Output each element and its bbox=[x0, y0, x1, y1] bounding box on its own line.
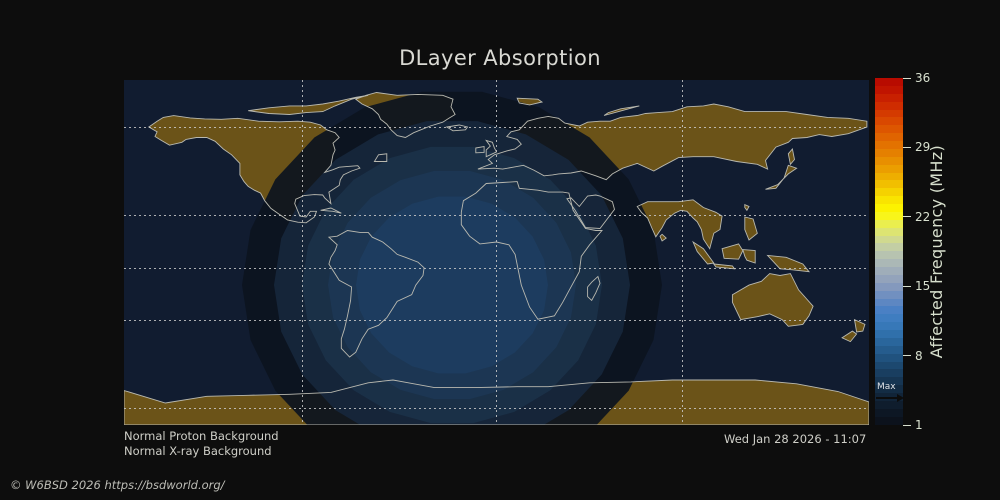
colorbar-segment bbox=[875, 117, 903, 125]
colorbar-segment bbox=[875, 180, 903, 188]
colorbar-segment bbox=[875, 243, 903, 251]
status-proton-background: Normal Proton Background bbox=[124, 429, 279, 444]
absorption-ring-4 bbox=[356, 197, 548, 374]
colorbar-segment bbox=[875, 417, 903, 425]
colorbar-segment bbox=[875, 299, 903, 307]
colorbar-segment bbox=[875, 306, 903, 314]
colorbar-segment bbox=[875, 369, 903, 377]
colorbar-segment bbox=[875, 267, 903, 275]
colorbar-segment bbox=[875, 212, 903, 220]
colorbar-segment bbox=[875, 338, 903, 346]
colorbar-segment bbox=[875, 275, 903, 283]
world-map[interactable] bbox=[124, 80, 869, 425]
colorbar-segment bbox=[875, 236, 903, 244]
status-messages: Normal Proton Background Normal X-ray Ba… bbox=[124, 429, 279, 459]
colorbar-tick: 1 bbox=[903, 418, 923, 432]
colorbar-segment bbox=[875, 188, 903, 196]
colorbar-segment bbox=[875, 354, 903, 362]
colorbar-segment bbox=[875, 173, 903, 181]
colorbar-segment bbox=[875, 362, 903, 370]
colorbar-segment bbox=[875, 133, 903, 141]
colorbar-segment bbox=[875, 251, 903, 259]
gridline-longitude bbox=[682, 80, 683, 425]
status-xray-background: Normal X-ray Background bbox=[124, 444, 279, 459]
colorbar-segment bbox=[875, 102, 903, 110]
timestamp: Wed Jan 28 2026 - 11:07 bbox=[724, 432, 866, 446]
colorbar-segment bbox=[875, 165, 903, 173]
colorbar-segment bbox=[875, 220, 903, 228]
colorbar-segment bbox=[875, 110, 903, 118]
colorbar-max-label: Max bbox=[876, 383, 906, 392]
colorbar-segment bbox=[875, 86, 903, 94]
arrow-right-icon bbox=[876, 394, 906, 401]
colorbar-segment bbox=[875, 125, 903, 133]
colorbar-segment bbox=[875, 94, 903, 102]
copyright-notice: © W6BSD 2026 https://bsdworld.org/ bbox=[10, 478, 225, 492]
colorbar-segment bbox=[875, 259, 903, 267]
gridline-longitude bbox=[302, 80, 303, 425]
colorbar-max-marker: Max bbox=[876, 383, 906, 403]
colorbar-gradient bbox=[875, 78, 903, 425]
colorbar-segment bbox=[875, 204, 903, 212]
colorbar-segment bbox=[875, 346, 903, 354]
colorbar-tick: 8 bbox=[903, 349, 923, 363]
gridline-longitude bbox=[496, 80, 497, 425]
colorbar-segment bbox=[875, 314, 903, 322]
colorbar-segment bbox=[875, 322, 903, 330]
colorbar-segment bbox=[875, 228, 903, 236]
page-root: DLayer Absorption 3629221581 Affected Fr… bbox=[0, 0, 1000, 500]
colorbar-segment bbox=[875, 409, 903, 417]
page-title: DLayer Absorption bbox=[0, 46, 1000, 70]
colorbar-segment bbox=[875, 149, 903, 157]
colorbar-axis-label-text: Affected Frequency (MHz) bbox=[927, 145, 946, 358]
colorbar-segment bbox=[875, 330, 903, 338]
colorbar-segment bbox=[875, 291, 903, 299]
colorbar-segment bbox=[875, 141, 903, 149]
colorbar-segment bbox=[875, 78, 903, 86]
colorbar-segment bbox=[875, 283, 903, 291]
colorbar-axis-label: Affected Frequency (MHz) bbox=[925, 78, 947, 425]
colorbar-segment bbox=[875, 196, 903, 204]
colorbar-segment bbox=[875, 157, 903, 165]
